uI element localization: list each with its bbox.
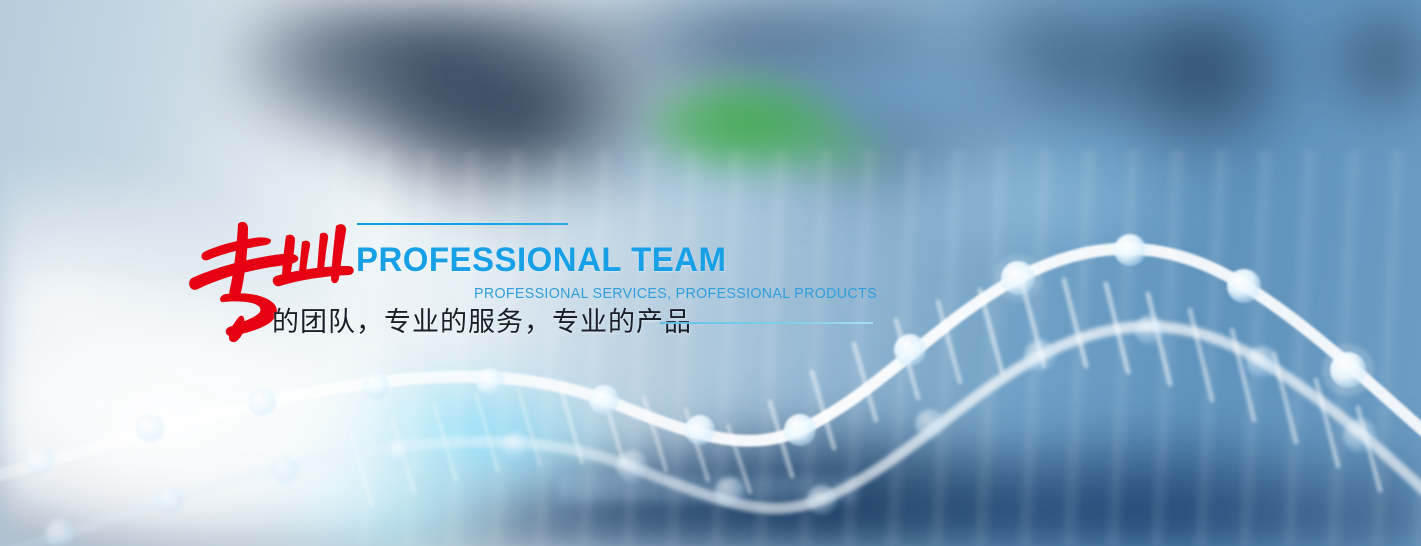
subtitle-english: PROFESSIONAL SERVICES, PROFESSIONAL PROD…	[474, 286, 877, 301]
headline-top-rule	[357, 223, 568, 225]
subtitle-chinese: 的团队，专业的服务，专业的产品	[272, 307, 692, 338]
page-title: PROFESSIONAL TEAM	[356, 243, 726, 277]
professional-team-banner: PROFESSIONAL TEAM PROFESSIONAL SERVICES,…	[0, 0, 1421, 546]
subtitle-bottom-rule	[660, 322, 873, 324]
banner-copy-block: PROFESSIONAL TEAM PROFESSIONAL SERVICES,…	[0, 0, 1421, 546]
